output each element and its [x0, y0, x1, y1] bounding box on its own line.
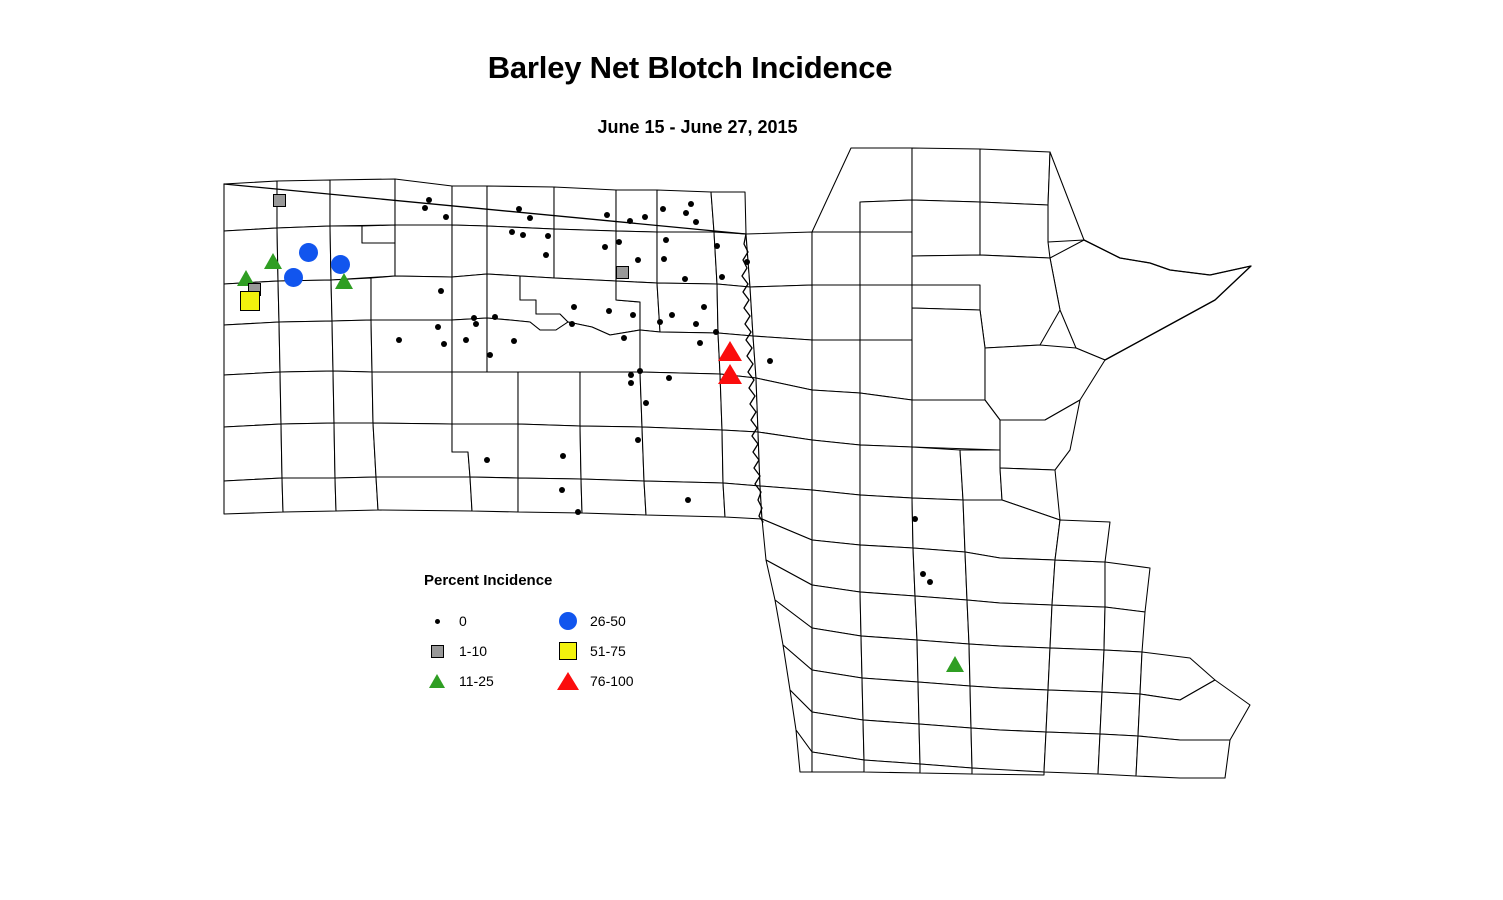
- incidence-marker-0: [713, 329, 719, 335]
- incidence-marker-0: [396, 337, 402, 343]
- incidence-marker-0: [426, 197, 432, 203]
- incidence-marker-0: [628, 380, 634, 386]
- incidence-marker-0: [912, 516, 918, 522]
- incidence-marker-76-100: [718, 364, 742, 384]
- gray-square-glyph: [431, 645, 444, 658]
- legend-entry-76-100: 76-100: [555, 670, 634, 692]
- blue-circle-glyph: [559, 612, 577, 630]
- legend-label: 51-75: [590, 643, 626, 659]
- legend-entry-1-10: 1-10: [424, 640, 487, 662]
- incidence-marker-0: [635, 437, 641, 443]
- incidence-marker-0: [683, 210, 689, 216]
- incidence-marker-26-50: [299, 243, 318, 262]
- legend-title: Percent Incidence: [424, 572, 552, 589]
- incidence-marker-0: [520, 232, 526, 238]
- incidence-marker-0: [744, 259, 750, 265]
- legend-label: 11-25: [459, 673, 494, 689]
- incidence-marker-1-10: [616, 266, 629, 279]
- incidence-marker-0: [438, 288, 444, 294]
- incidence-marker-0: [693, 219, 699, 225]
- incidence-marker-0: [602, 244, 608, 250]
- legend-label: 0: [459, 613, 467, 629]
- small-black-dot-icon: [424, 610, 450, 632]
- incidence-marker-0: [719, 274, 725, 280]
- incidence-marker-0: [443, 214, 449, 220]
- incidence-marker-0: [697, 340, 703, 346]
- incidence-marker-0: [669, 312, 675, 318]
- legend-label: 76-100: [590, 673, 634, 689]
- incidence-marker-0: [637, 368, 643, 374]
- incidence-marker-0: [767, 358, 773, 364]
- incidence-marker-0: [920, 571, 926, 577]
- incidence-marker-0: [487, 352, 493, 358]
- incidence-marker-0: [627, 218, 633, 224]
- incidence-marker-0: [509, 229, 515, 235]
- legend-entry-11-25: 11-25: [424, 670, 494, 692]
- legend-entry-51-75: 51-75: [555, 640, 626, 662]
- legend-entry-0: 0: [424, 610, 467, 632]
- incidence-marker-11-25: [264, 253, 282, 269]
- incidence-marker-0: [527, 215, 533, 221]
- yellow-square-glyph: [559, 642, 577, 660]
- incidence-marker-0: [661, 256, 667, 262]
- county-map-svg: [0, 0, 1503, 900]
- map-canvas: [0, 0, 1503, 900]
- incidence-marker-0: [484, 457, 490, 463]
- legend-label: 26-50: [590, 613, 626, 629]
- north-dakota-counties: [224, 179, 762, 519]
- minnesota-counties: [746, 148, 1251, 778]
- incidence-marker-0: [701, 304, 707, 310]
- incidence-marker-0: [628, 372, 634, 378]
- incidence-marker-0: [606, 308, 612, 314]
- incidence-marker-0: [688, 201, 694, 207]
- green-triangle-icon: [424, 670, 450, 692]
- incidence-marker-11-25: [335, 273, 353, 289]
- incidence-marker-0: [604, 212, 610, 218]
- incidence-marker-0: [630, 312, 636, 318]
- yellow-square-icon: [555, 640, 581, 662]
- incidence-marker-51-75: [240, 291, 260, 311]
- incidence-marker-0: [621, 335, 627, 341]
- green-triangle-glyph: [429, 674, 445, 688]
- incidence-marker-0: [714, 243, 720, 249]
- incidence-marker-0: [545, 233, 551, 239]
- incidence-marker-0: [660, 206, 666, 212]
- incidence-marker-0: [635, 257, 641, 263]
- incidence-marker-0: [543, 252, 549, 258]
- incidence-marker-0: [463, 337, 469, 343]
- map-legend: Percent Incidence 01-1011-2526-5051-7576…: [424, 572, 654, 702]
- incidence-marker-11-25: [946, 656, 964, 672]
- incidence-marker-0: [571, 304, 577, 310]
- incidence-marker-26-50: [284, 268, 303, 287]
- incidence-marker-0: [511, 338, 517, 344]
- incidence-marker-0: [642, 214, 648, 220]
- legend-label: 1-10: [459, 643, 487, 659]
- incidence-marker-0: [575, 509, 581, 515]
- blue-circle-icon: [555, 610, 581, 632]
- red-triangle-glyph: [557, 672, 579, 690]
- incidence-marker-0: [616, 239, 622, 245]
- incidence-marker-0: [663, 237, 669, 243]
- incidence-marker-0: [685, 497, 691, 503]
- figure-root: Barley Net Blotch Incidence June 15 - Ju…: [0, 0, 1503, 900]
- incidence-marker-0: [666, 375, 672, 381]
- incidence-marker-0: [559, 487, 565, 493]
- incidence-marker-0: [693, 321, 699, 327]
- incidence-marker-0: [643, 400, 649, 406]
- red-triangle-icon: [555, 670, 581, 692]
- incidence-marker-0: [516, 206, 522, 212]
- incidence-marker-26-50: [331, 255, 350, 274]
- gray-square-icon: [424, 640, 450, 662]
- incidence-marker-0: [441, 341, 447, 347]
- incidence-marker-0: [927, 579, 933, 585]
- incidence-marker-0: [682, 276, 688, 282]
- incidence-marker-0: [560, 453, 566, 459]
- incidence-marker-0: [435, 324, 441, 330]
- legend-entry-26-50: 26-50: [555, 610, 626, 632]
- incidence-marker-76-100: [718, 341, 742, 361]
- incidence-marker-0: [473, 321, 479, 327]
- incidence-marker-0: [657, 319, 663, 325]
- incidence-marker-1-10: [273, 194, 286, 207]
- incidence-marker-0: [422, 205, 428, 211]
- incidence-marker-0: [492, 314, 498, 320]
- small-black-dot-glyph: [435, 619, 440, 624]
- incidence-marker-0: [569, 321, 575, 327]
